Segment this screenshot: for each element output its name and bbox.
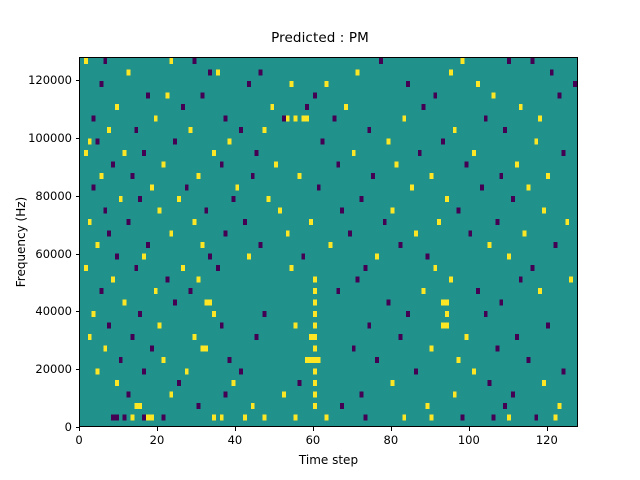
x-tick-label: 100 [458,433,480,447]
y-tick-mark [76,369,80,370]
y-tick-mark [76,138,80,139]
y-tick-label: 120000 [28,73,72,87]
y-tick-mark [76,80,80,81]
y-tick-mark [76,196,80,197]
y-tick-label: 0 [65,420,72,434]
plot-area [79,57,578,427]
x-axis-label: Time step [79,453,578,467]
x-tick-label: 40 [228,433,243,447]
x-tick-label: 0 [75,433,82,447]
x-tick-label: 80 [384,433,399,447]
y-tick-label: 60000 [35,247,72,261]
y-tick-label: 80000 [35,189,72,203]
x-tick-mark [79,427,80,431]
x-tick-label: 60 [306,433,321,447]
y-tick-label: 40000 [35,304,72,318]
y-tick-label: 100000 [28,131,72,145]
y-tick-label: 20000 [35,362,72,376]
x-tick-mark [235,427,236,431]
y-tick-mark [76,254,80,255]
x-tick-mark [547,427,548,431]
x-tick-mark [391,427,392,431]
y-axis-label: Frequency (Hz) [14,57,30,427]
x-tick-label: 20 [150,433,165,447]
x-tick-mark [469,427,470,431]
page-title: Predicted : PM [0,30,640,46]
x-tick-mark [157,427,158,431]
matplotlib-figure: Predicted : PM Frequency (Hz) 0200004000… [0,0,640,480]
x-tick-label: 120 [536,433,558,447]
x-tick-mark [313,427,314,431]
heatmap-canvas [80,58,577,426]
y-tick-mark [76,311,80,312]
